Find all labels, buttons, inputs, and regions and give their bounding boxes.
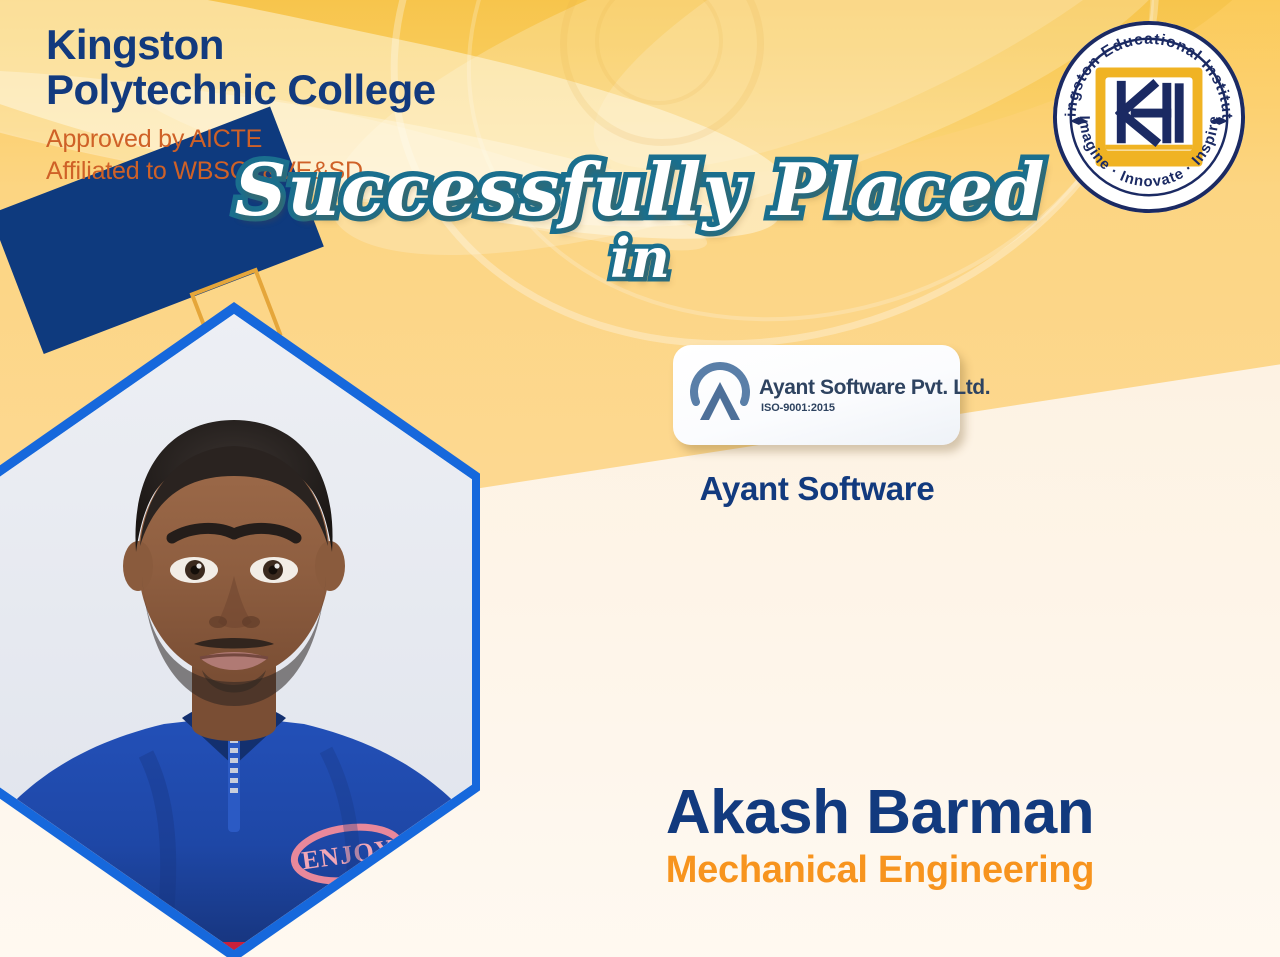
college-approval-line: Approved by AICTE: [46, 123, 436, 155]
college-header: Kingston Polytechnic College Approved by…: [46, 22, 436, 187]
college-name-line-1: Kingston: [46, 22, 436, 67]
company-iso-certification: ISO-9001:2015: [761, 402, 990, 414]
student-department: Mechanical Engineering: [600, 849, 1160, 892]
student-portrait: ENJOY: [0, 314, 472, 950]
student-details: Akash Barman Mechanical Engineering: [600, 780, 1160, 892]
placement-announcement-poster: Kingston Polytechnic College Approved by…: [0, 0, 1280, 957]
college-accreditation: Approved by AICTE Affiliated to WBSCT&VE…: [46, 123, 436, 187]
ayant-arc-chevron-icon: [687, 362, 753, 428]
college-name: Kingston Polytechnic College: [46, 22, 436, 113]
company-logo-text: Ayant Software Pvt. Ltd. ISO-9001:2015: [759, 376, 990, 414]
student-name: Akash Barman: [600, 780, 1160, 845]
company-legal-name: Ayant Software Pvt. Ltd.: [759, 376, 990, 400]
company-logo-card: Ayant Software Pvt. Ltd. ISO-9001:2015: [673, 345, 960, 445]
college-name-line-2: Polytechnic College: [46, 67, 436, 112]
college-affiliation-line: Affiliated to WBSCT&VE&SD: [46, 155, 436, 187]
student-photo-composition: ENJOY: [0, 206, 502, 957]
company-caption: Ayant Software: [593, 470, 1041, 508]
kei-seal-icon: Kingston Educational Institute Imagine ·…: [1050, 18, 1248, 216]
